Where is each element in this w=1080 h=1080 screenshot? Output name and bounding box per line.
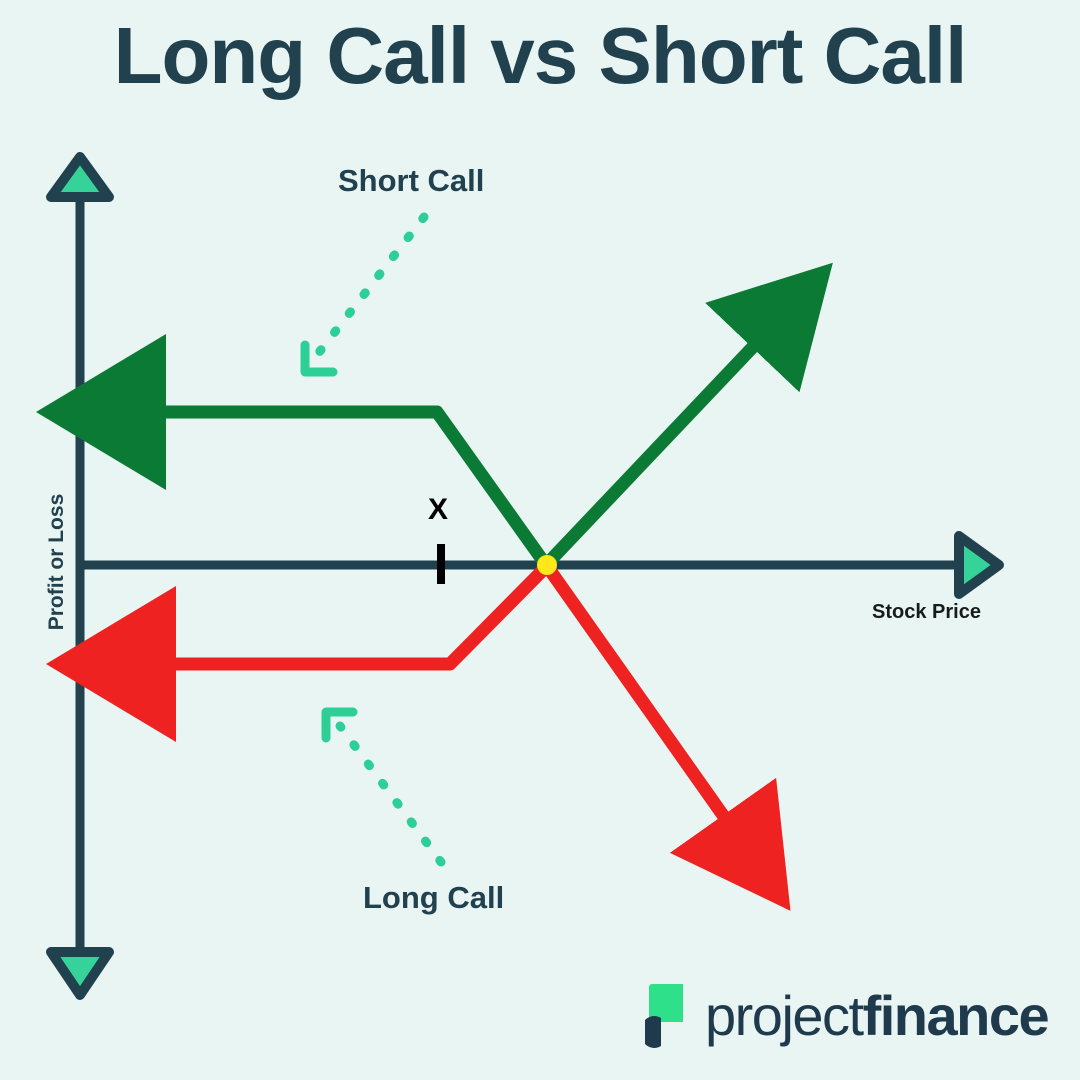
short-call-callout-arrow: [305, 217, 424, 372]
payoff-diagram: [0, 0, 1080, 1080]
projectfinance-logo[interactable]: projectfinance: [645, 975, 1048, 1055]
long-call-line: [150, 566, 768, 879]
chart-canvas: Long Call vs Short Call Short Call Long …: [0, 0, 1080, 1080]
page-title: Long Call vs Short Call: [0, 14, 1080, 98]
strike-price-label: X: [428, 493, 448, 527]
y-axis-label: Profit or Loss: [45, 472, 69, 652]
short-call-line: [140, 291, 806, 565]
short-call-label: Short Call: [338, 163, 484, 199]
breakeven-dot: [537, 555, 557, 575]
logo-word-finance: finance: [863, 984, 1049, 1047]
x-axis-right-arrow-icon: [959, 536, 999, 594]
y-axis-up-arrow-icon: [51, 157, 109, 197]
long-call-callout-arrow: [326, 712, 441, 862]
long-call-label: Long Call: [363, 880, 504, 916]
logo-word-project: project: [705, 984, 863, 1047]
logo-wordmark: projectfinance: [705, 983, 1048, 1048]
x-axis-label: Stock Price: [872, 601, 981, 624]
logo-flag-icon: [645, 982, 691, 1048]
y-axis-down-arrow-icon: [51, 952, 109, 995]
axes: [51, 157, 999, 995]
